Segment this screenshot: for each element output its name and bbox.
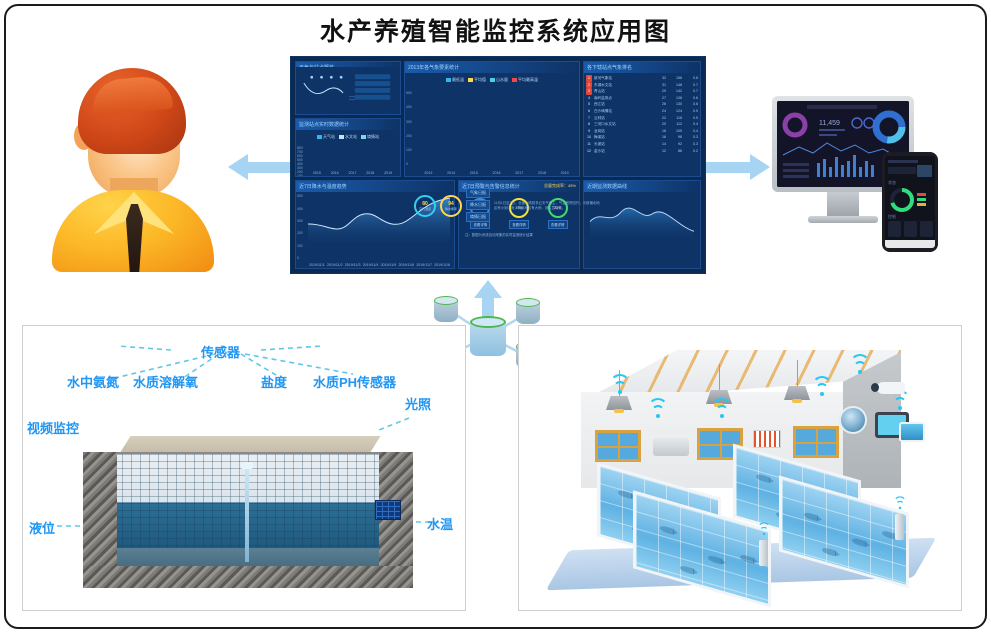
panel-title: 各下辖站点气象排名	[584, 62, 700, 73]
lamp-glow	[792, 399, 802, 403]
light-sensor-icon	[375, 500, 401, 520]
weather-curve	[298, 69, 398, 107]
wifi-icon	[757, 525, 771, 535]
label-water-temperature: 水温	[427, 514, 453, 533]
area-y-axis: 500400 300200 1000	[297, 194, 303, 260]
table-row[interactable]: 4南岭监测点271380.6	[586, 95, 698, 102]
wifi-icon	[811, 380, 833, 396]
panel-title: 监测站点实时数据统计	[296, 119, 400, 130]
avatar-hair	[78, 68, 186, 154]
lamp-cord	[719, 364, 720, 390]
panel-body	[296, 67, 400, 114]
tank-sensor-pole	[759, 540, 768, 566]
smartphone[interactable]: 状态 控制	[882, 152, 938, 252]
pill-button-group: 气象日报 降水日报 墒情日报	[466, 188, 490, 224]
pill-button-daily-weather[interactable]: 气象日报	[466, 188, 490, 198]
arrow-left-icon	[228, 154, 298, 180]
table-row[interactable]: 10梅溪站16980.3	[586, 134, 698, 141]
lamp-glow	[614, 409, 624, 413]
label-sensor: 传感器	[201, 342, 240, 361]
sensor-probe-rod	[245, 466, 249, 562]
area-x-axis: 2019/11/12019/11/2 2019/11/32019/11/4 20…	[308, 263, 451, 267]
station-y-axis: 800700 600500 400300 200100 0	[297, 146, 303, 166]
panel-title: 2013年各气象要素统计	[405, 62, 579, 73]
phone-screen: 状态 控制	[885, 156, 935, 248]
legend-item: 平均最高温	[512, 77, 538, 83]
house-diagram-panel	[518, 325, 962, 611]
window	[595, 430, 641, 462]
panel-station-bar[interactable]: 监测站点实时数据统计 天气站 水文站 墒情站 800700 600500 400…	[295, 118, 401, 177]
facility-illustration	[547, 344, 939, 596]
bar-legend: 最低温 平均值 山水量 平均最高温	[407, 75, 577, 83]
rank-list: 1新河气象站321560.8 2东湖水文站311480.7 3青山站291420…	[584, 73, 700, 176]
table-row[interactable]: 1新河气象站321560.8	[586, 75, 698, 82]
svg-text:控制: 控制	[888, 213, 896, 219]
pond-wall-left	[83, 452, 117, 584]
table-row[interactable]: 9龙岗站181050.4	[586, 128, 698, 135]
phone-dashboard-graphic: 状态 控制	[885, 156, 935, 248]
pill-button-daily-soil[interactable]: 墒情日报	[466, 212, 490, 222]
pond-wall-bottom	[83, 566, 413, 588]
label-ammonia: 水中氨氮	[67, 372, 119, 391]
hub-center-node	[470, 316, 506, 356]
trend-line	[588, 196, 696, 241]
page-title: 水产养殖智能监控系统应用图	[0, 12, 991, 48]
legend-item: 山水量	[490, 77, 508, 83]
tank-sensor-pole	[895, 514, 904, 540]
label-light: 光照	[405, 394, 431, 413]
wifi-icon	[609, 378, 631, 394]
kpi-humidity: 80空气湿度	[414, 195, 436, 217]
wifi-icon	[647, 402, 669, 418]
label-ph-sensor: 水质PH传感器	[313, 372, 396, 391]
panel-rank-table[interactable]: 各下辖站点气象排名 1新河气象站321560.8 2东湖水文站311480.7 …	[583, 61, 701, 177]
arrow-right-icon	[700, 154, 770, 180]
wifi-icon	[893, 499, 907, 509]
user-avatar	[48, 68, 218, 268]
table-row[interactable]: 11长坡站14920.3	[586, 141, 698, 148]
table-row[interactable]: 2东湖水文站311480.7	[586, 82, 698, 89]
year-bars	[417, 91, 576, 166]
ventilation-fan	[839, 406, 867, 434]
pill-button-daily-rain[interactable]: 降水日报	[466, 200, 490, 210]
table-row[interactable]: 5西江站261300.6	[586, 101, 698, 108]
security-camera-icon	[877, 382, 905, 394]
wifi-icon	[711, 402, 733, 418]
panel-weather-trend[interactable]: 天气与站点概览	[295, 61, 401, 115]
station-legend: 天气站 水文站 墒情站	[298, 132, 398, 140]
alarm-paragraph: 11月1日至7日，全省以晴到多云天气为主，气温有所回升；中部偏北地区有小到中雨，…	[494, 201, 602, 212]
svg-text:状态: 状态	[888, 179, 896, 185]
alarm-note: 注：数据为系统自动采集的实时监测统计结果	[461, 229, 577, 238]
table-row[interactable]: 12金沙站12860.2	[586, 148, 698, 155]
table-row[interactable]: 3青山站291420.7	[586, 88, 698, 95]
devices-group: 11,459	[772, 96, 958, 254]
ceiling-lamp	[784, 386, 810, 400]
wifi-icon	[889, 394, 911, 410]
bar-x-axis: 20132014 20152016 20172018 2019	[417, 171, 576, 175]
legend-item: 最低温	[446, 77, 464, 83]
svg-text:11,459: 11,459	[819, 120, 840, 127]
pond-diagram-panel: 传感器 水中氨氮 水质溶解氧 盐度 水质PH传感器 光照 视频监控 液位 水温	[22, 325, 466, 611]
label-dissolved-oxygen: 水质溶解氧	[133, 372, 198, 391]
lamp-cord	[797, 360, 798, 386]
station-bars	[308, 150, 397, 166]
legend-item: 水文站	[339, 134, 357, 140]
radiator	[653, 438, 689, 456]
window	[793, 426, 839, 458]
legend-item: 墒情站	[361, 134, 379, 140]
wifi-icon	[849, 358, 871, 374]
monitor-stand	[827, 192, 859, 218]
bar-y-axis: 500400 300200 1000	[406, 91, 412, 166]
monitor-base	[808, 216, 878, 223]
label-video-monitor: 视频监控	[27, 418, 79, 437]
sensor-probe-head	[241, 462, 253, 469]
label-water-level: 液位	[29, 518, 55, 537]
table-row[interactable]: 6白沙墒情站241240.5	[586, 108, 698, 115]
station-x-axis: 2015 2016 2017 2018 2019	[308, 171, 397, 175]
label-salinity: 盐度	[261, 372, 287, 391]
legend-item: 天气站	[317, 134, 335, 140]
wifi-router	[899, 422, 925, 442]
panel-yearly-bar[interactable]: 2013年各气象要素统计 最低温 平均值 山水量 平均最高温 500400 30…	[404, 61, 580, 177]
table-row[interactable]: 7云林站221180.5	[586, 115, 698, 122]
hub-node	[434, 296, 458, 322]
breaker-panel	[753, 430, 781, 448]
kpi-cluster: 80空气湿度 94降水概率 气象日报 降水日报 墒情日报 11月1日至7日，全省…	[414, 188, 602, 224]
panel-body: 天气站 水文站 墒情站 800700 600500 400300 200100 …	[296, 130, 400, 176]
table-row[interactable]: 8三河口水文站201120.4	[586, 121, 698, 128]
kpi-precipitation: 94降水概率	[440, 195, 462, 217]
dashboard-screen[interactable]: 天气与站点概览 监测站点实时数据统计	[290, 56, 706, 274]
pond-illustration	[83, 436, 413, 591]
legend-item: 平均值	[468, 77, 486, 83]
hub-node	[516, 298, 540, 324]
panel-body: 最低温 平均值 山水量 平均最高温 500400 300200 1000	[405, 73, 579, 176]
